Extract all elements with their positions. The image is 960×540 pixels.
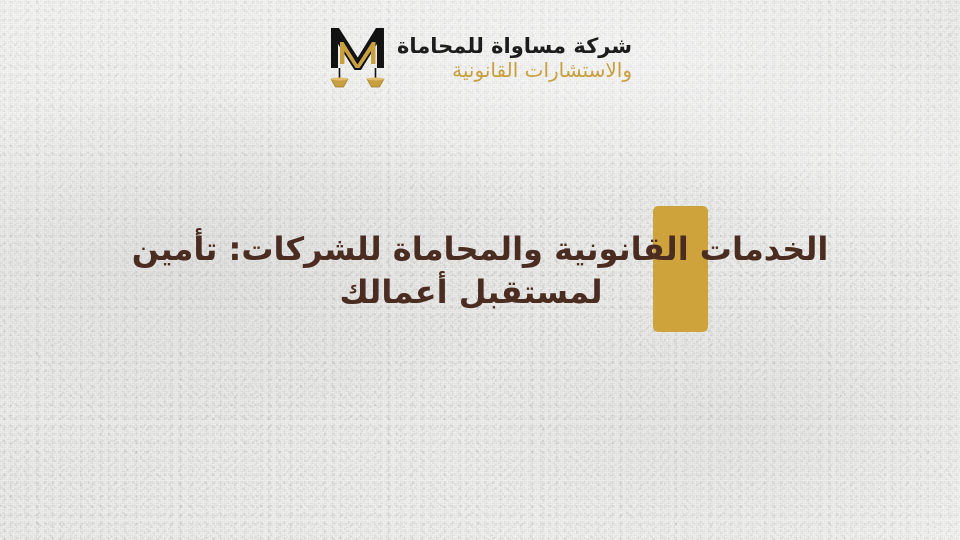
slide-canvas: شركة مساواة للمحاماة والاستشارات القانون… xyxy=(0,0,960,540)
headline-line-2: لمستقبل أعمالك xyxy=(0,271,942,314)
company-name: شركة مساواة للمحاماة xyxy=(397,35,632,57)
headline: الخدمات القانونية والمحاماة للشركات: تأم… xyxy=(0,228,960,313)
headline-line-1: الخدمات القانونية والمحاماة للشركات: تأم… xyxy=(0,228,960,271)
brand-lockup: شركة مساواة للمحاماة والاستشارات القانون… xyxy=(328,24,632,94)
scales-of-justice-m-monogram-icon xyxy=(328,24,386,94)
company-subtitle: والاستشارات القانونية xyxy=(452,60,632,81)
brand-text-group: شركة مساواة للمحاماة والاستشارات القانون… xyxy=(397,35,632,83)
